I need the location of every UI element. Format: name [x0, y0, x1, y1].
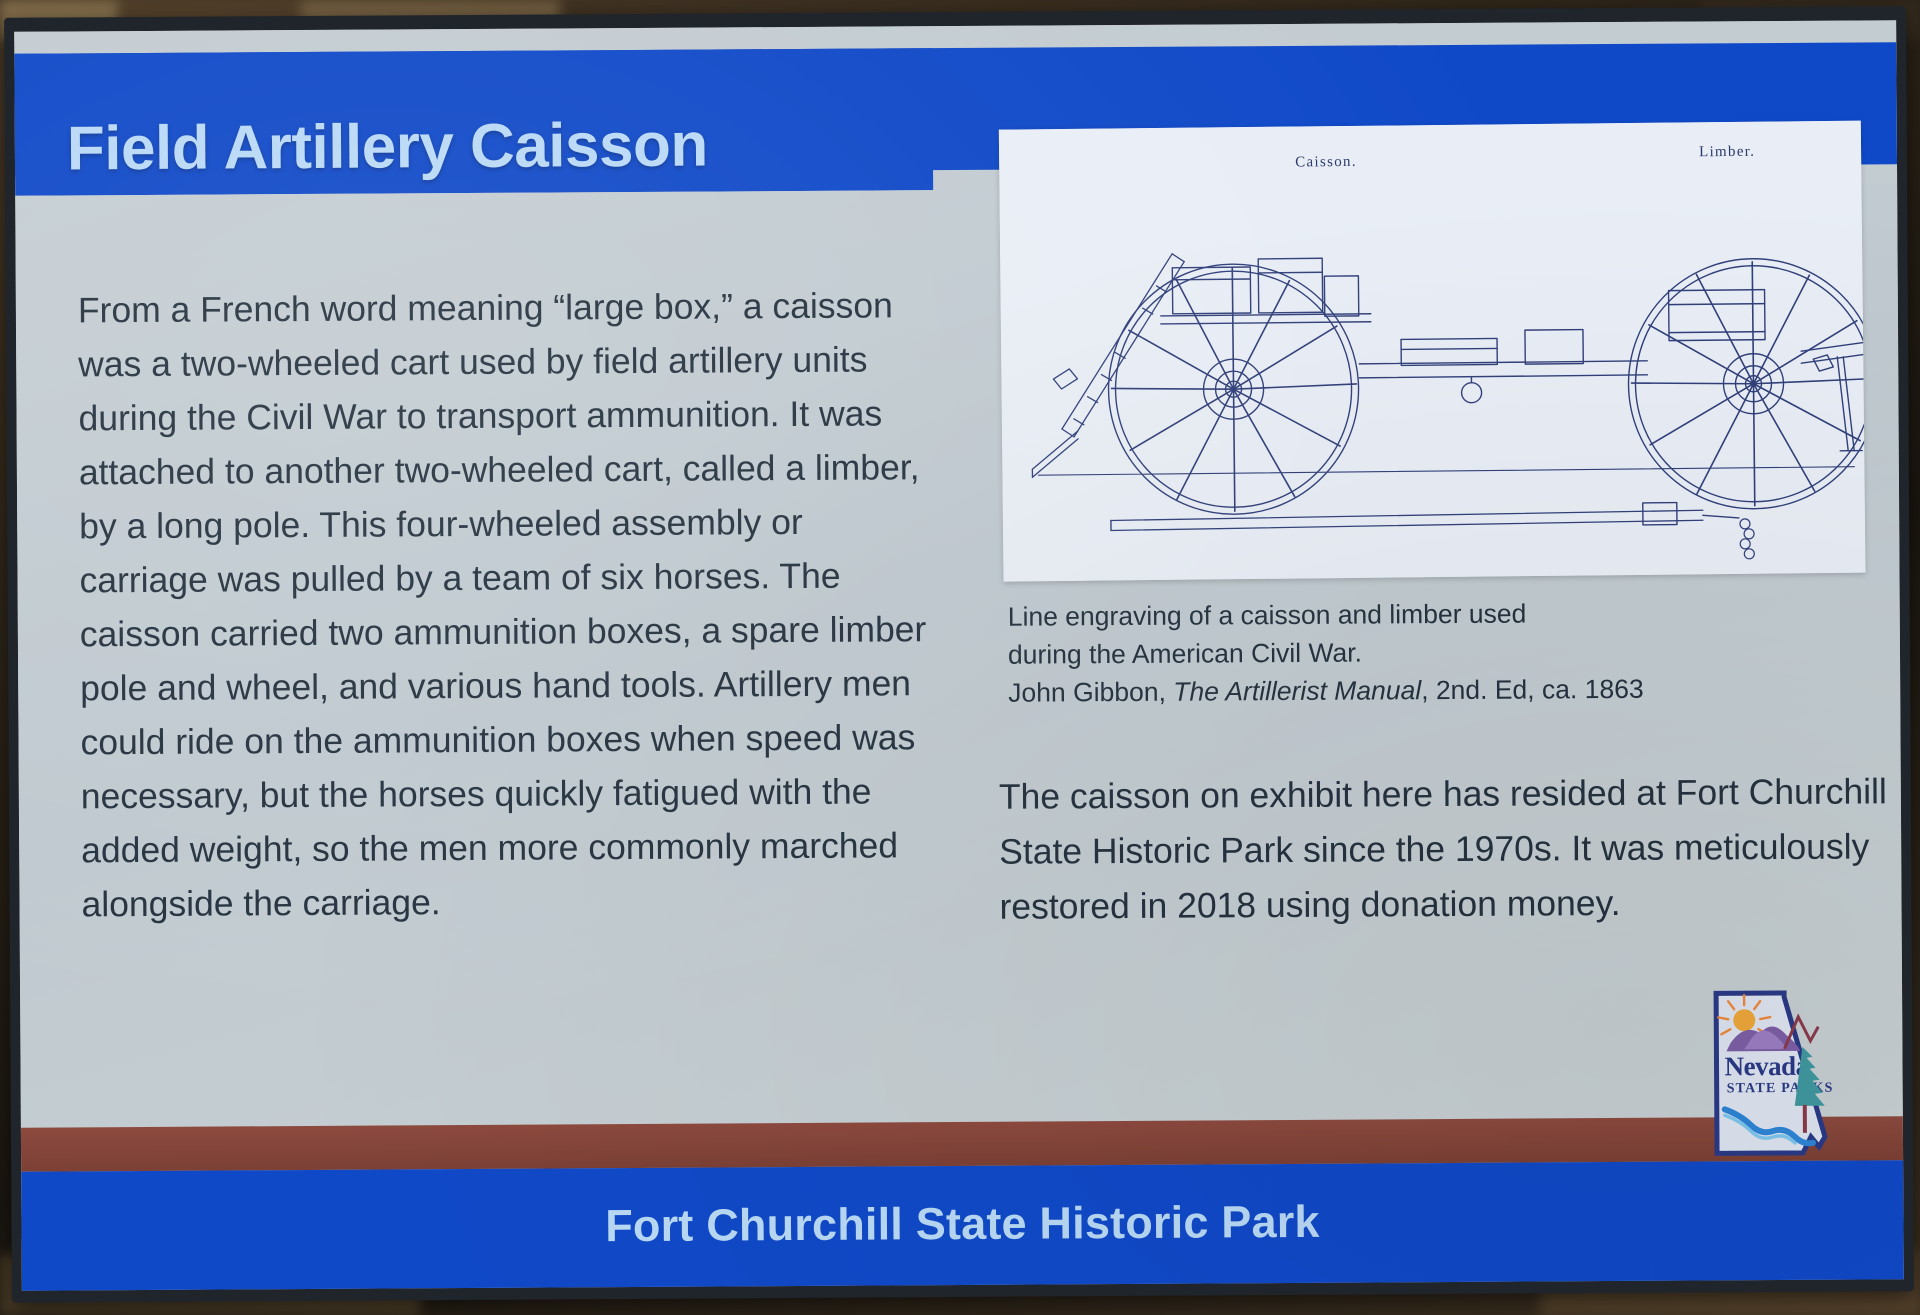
- credit-suffix: , 2nd. Ed, ca. 1863: [1421, 674, 1644, 705]
- exhibit-note-paragraph: The caisson on exhibit here has resided …: [999, 764, 1900, 934]
- sign-face: Field Artillery Caisson From a French wo…: [14, 20, 1904, 1290]
- footer-band: Fort Churchill State Historic Park: [21, 1160, 1904, 1290]
- right-column: Caisson. Limber. Line engraving of a cai…: [993, 184, 1879, 1121]
- caption-line-2: during the American Civil War.: [1008, 631, 1858, 674]
- credit-author: John Gibbon,: [1008, 677, 1173, 708]
- page-title: Field Artillery Caisson: [67, 110, 708, 185]
- nevada-state-outline-icon: Nevada STATE PARKS: [1706, 987, 1837, 1160]
- sign-frame: Field Artillery Caisson From a French wo…: [4, 6, 1914, 1303]
- footer-park-name: Fort Churchill State Historic Park: [21, 1192, 1903, 1255]
- nevada-state-parks-logo: Nevada STATE PARKS: [1706, 987, 1837, 1160]
- photo-backdrop: Field Artillery Caisson From a French wo…: [0, 0, 1920, 1315]
- caisson-limber-line-engraving: Caisson. Limber.: [999, 121, 1866, 582]
- credit-book-title: The Artillerist Manual: [1173, 675, 1421, 707]
- engraving-label-limber: Limber.: [1699, 144, 1755, 161]
- engraving-illustration: Caisson. Limber.: [999, 121, 1866, 582]
- left-text-column: From a French word meaning “large box,” …: [78, 278, 930, 931]
- caption-line-1: Line engraving of a caisson and limber u…: [1008, 593, 1858, 636]
- logo-name-text: Nevada: [1724, 1051, 1809, 1082]
- body-paragraph: From a French word meaning “large box,” …: [78, 278, 930, 931]
- engraving-label-caisson: Caisson.: [1295, 154, 1357, 171]
- figure-credit: John Gibbon, The Artillerist Manual, 2nd…: [1008, 669, 1858, 712]
- figure-caption: Line engraving of a caisson and limber u…: [1008, 593, 1859, 712]
- sign-body: From a French word meaning “large box,” …: [15, 184, 1903, 1127]
